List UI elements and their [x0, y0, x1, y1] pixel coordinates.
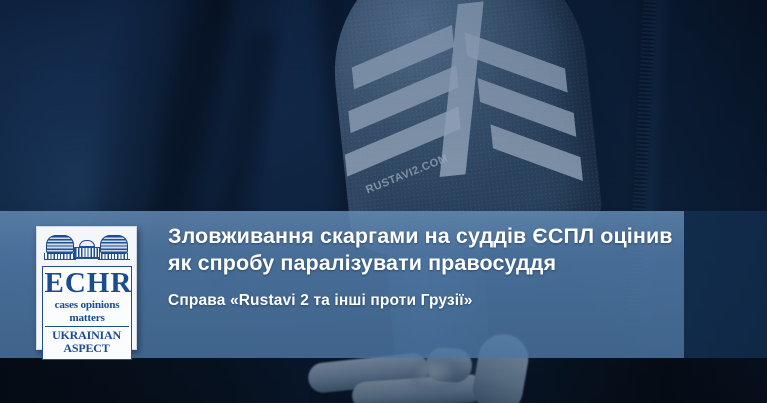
tower-right: [100, 235, 128, 254]
logo-tagline: cases opinions matters: [44, 299, 130, 324]
tower-left: [46, 235, 74, 254]
headline: Зловживання скаргами на суддів ЄСПЛ оцін…: [168, 223, 688, 277]
news-banner-image: RUSTAVI2.COM ECHR cases o: [0, 0, 767, 403]
logo-text-plate: ECHR cases opinions matters UKRAINIAN AS…: [42, 266, 132, 360]
echr-building-icon: [43, 232, 131, 263]
case-subtitle: Справа «Rustavi 2 та інші проти Грузії»: [168, 291, 688, 311]
echr-ukrainian-aspect-logo[interactable]: ECHR cases opinions matters UKRAINIAN AS…: [36, 226, 137, 350]
banner-fill-tail: [684, 211, 767, 358]
tower-base-right: [98, 253, 130, 260]
logo-acronym: ECHR: [45, 269, 129, 298]
rotunda-icon: [74, 240, 100, 260]
caption-text-block: Зловживання скаргами на суддів ЄСПЛ оцін…: [168, 223, 688, 311]
logo-subtitle: UKRAINIAN ASPECT: [45, 326, 129, 355]
tower-base-left: [44, 253, 76, 260]
